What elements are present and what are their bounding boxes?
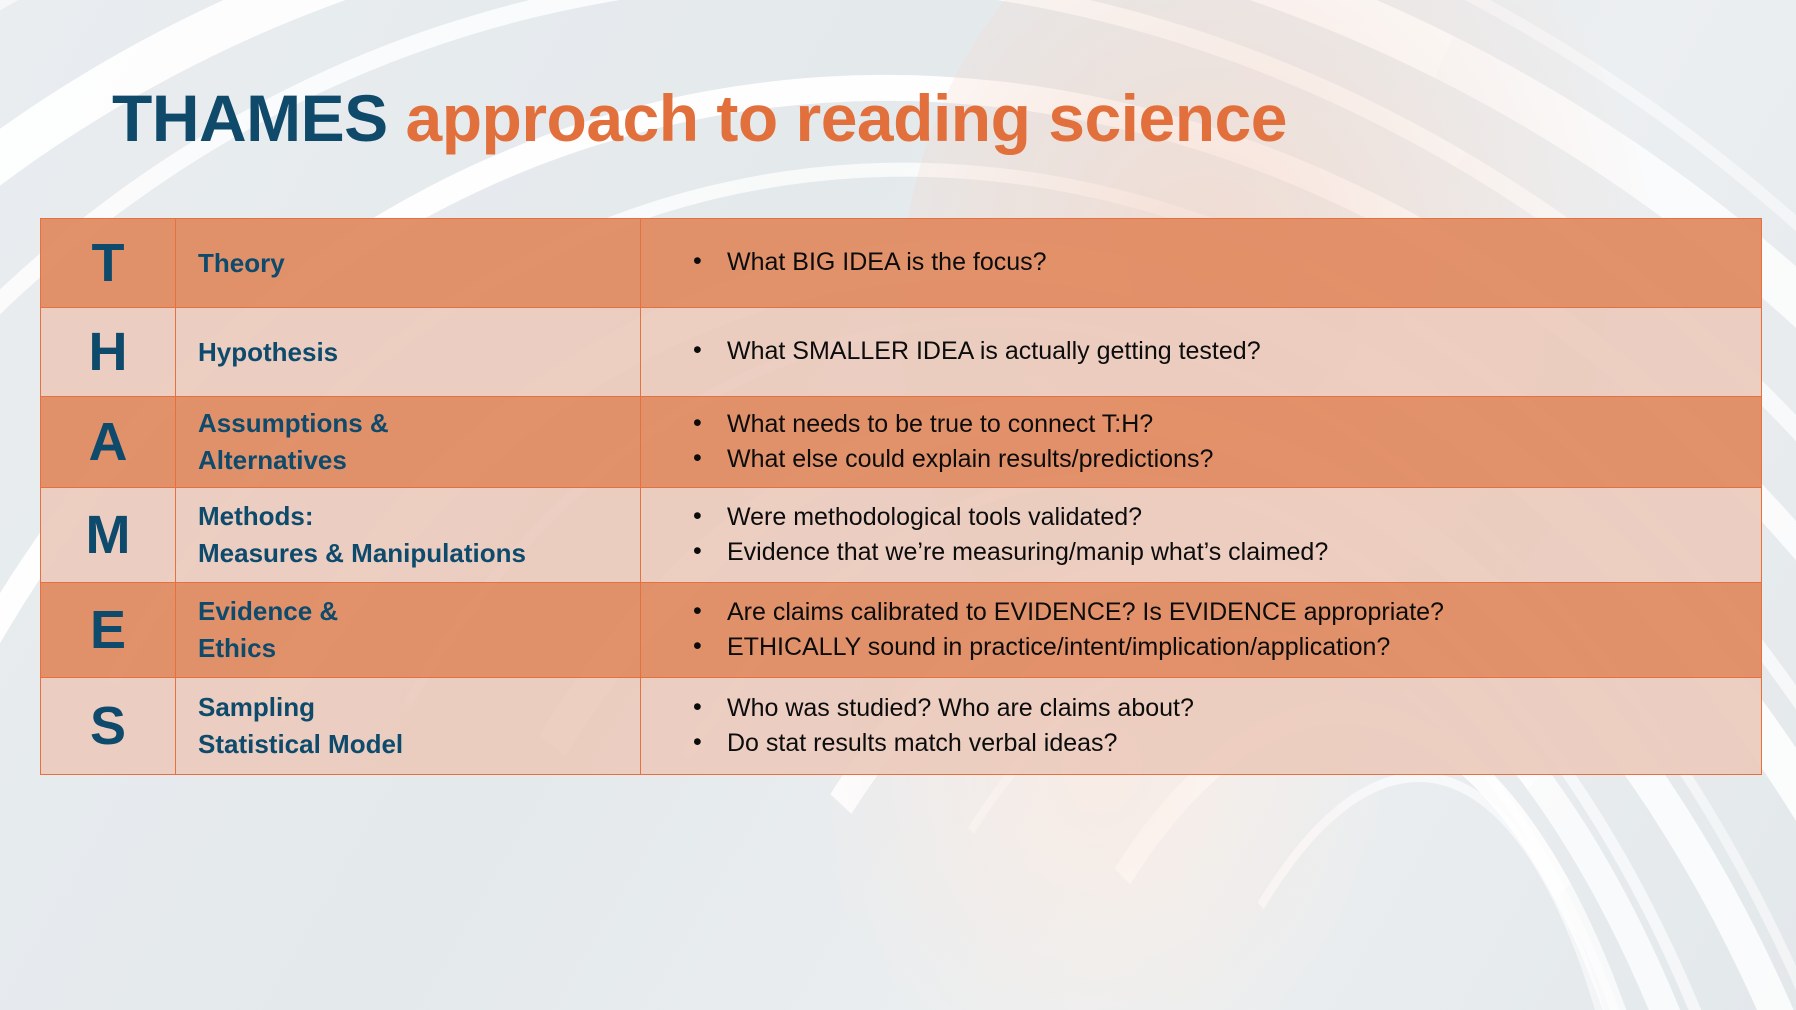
row-questions: What BIG IDEA is the focus? — [641, 219, 1762, 308]
thames-table-body: TTheoryWhat BIG IDEA is the focus?HHypot… — [41, 219, 1762, 775]
list-item: Who was studied? Who are claims about? — [693, 691, 1761, 727]
list-item: What needs to be true to connect T:H? — [693, 407, 1761, 443]
row-term: Assumptions &Alternatives — [176, 397, 641, 488]
question-list: Who was studied? Who are claims about?Do… — [655, 691, 1761, 762]
row-term-line-1: Sampling — [198, 689, 640, 726]
question-list: What SMALLER IDEA is actually getting te… — [655, 334, 1761, 370]
list-item: What BIG IDEA is the focus? — [693, 245, 1761, 281]
list-item: Do stat results match verbal ideas? — [693, 726, 1761, 762]
question-list: What needs to be true to connect T:H?Wha… — [655, 407, 1761, 478]
row-letter: T — [41, 219, 176, 308]
row-questions: Are claims calibrated to EVIDENCE? Is EV… — [641, 583, 1762, 678]
row-term: Methods:Measures & Manipulations — [176, 488, 641, 583]
title-rest: approach to reading science — [388, 81, 1287, 155]
row-term: Theory — [176, 219, 641, 308]
table-row: HHypothesisWhat SMALLER IDEA is actually… — [41, 308, 1762, 397]
list-item: What else could explain results/predicti… — [693, 442, 1761, 478]
row-letter: A — [41, 397, 176, 488]
row-term-line-1: Theory — [198, 245, 640, 282]
row-letter: E — [41, 583, 176, 678]
row-term-line-2: Alternatives — [198, 442, 640, 479]
row-questions: Were methodological tools validated?Evid… — [641, 488, 1762, 583]
table-row: SSamplingStatistical ModelWho was studie… — [41, 678, 1762, 775]
row-letter: M — [41, 488, 176, 583]
list-item: Are claims calibrated to EVIDENCE? Is EV… — [693, 595, 1761, 631]
question-list: What BIG IDEA is the focus? — [655, 245, 1761, 281]
list-item: Evidence that we’re measuring/manip what… — [693, 535, 1761, 571]
row-term: Evidence &Ethics — [176, 583, 641, 678]
row-questions: Who was studied? Who are claims about?Do… — [641, 678, 1762, 775]
list-item: What SMALLER IDEA is actually getting te… — [693, 334, 1761, 370]
table-row: AAssumptions &AlternativesWhat needs to … — [41, 397, 1762, 488]
question-list: Were methodological tools validated?Evid… — [655, 500, 1761, 571]
row-questions: What SMALLER IDEA is actually getting te… — [641, 308, 1762, 397]
row-term-line-2: Ethics — [198, 630, 640, 667]
row-letter: H — [41, 308, 176, 397]
row-term: Hypothesis — [176, 308, 641, 397]
row-term-line-1: Evidence & — [198, 593, 640, 630]
row-term-line-1: Assumptions & — [198, 405, 640, 442]
background-swoosh — [995, 751, 1725, 1010]
table-row: EEvidence &EthicsAre claims calibrated t… — [41, 583, 1762, 678]
row-term-line-2: Measures & Manipulations — [198, 535, 640, 572]
row-questions: What needs to be true to connect T:H?Wha… — [641, 397, 1762, 488]
table-row: MMethods:Measures & ManipulationsWere me… — [41, 488, 1762, 583]
row-letter: S — [41, 678, 176, 775]
row-term-line-2: Statistical Model — [198, 726, 640, 763]
table-row: TTheoryWhat BIG IDEA is the focus? — [41, 219, 1762, 308]
page-title: THAMES approach to reading science — [112, 85, 1287, 151]
row-term: SamplingStatistical Model — [176, 678, 641, 775]
thames-table: TTheoryWhat BIG IDEA is the focus?HHypot… — [40, 218, 1762, 775]
title-brand: THAMES — [112, 81, 388, 155]
row-term-line-1: Methods: — [198, 498, 640, 535]
row-term-line-1: Hypothesis — [198, 334, 640, 371]
list-item: Were methodological tools validated? — [693, 500, 1761, 536]
list-item: ETHICALLY sound in practice/intent/impli… — [693, 630, 1761, 666]
question-list: Are claims calibrated to EVIDENCE? Is EV… — [655, 595, 1761, 666]
